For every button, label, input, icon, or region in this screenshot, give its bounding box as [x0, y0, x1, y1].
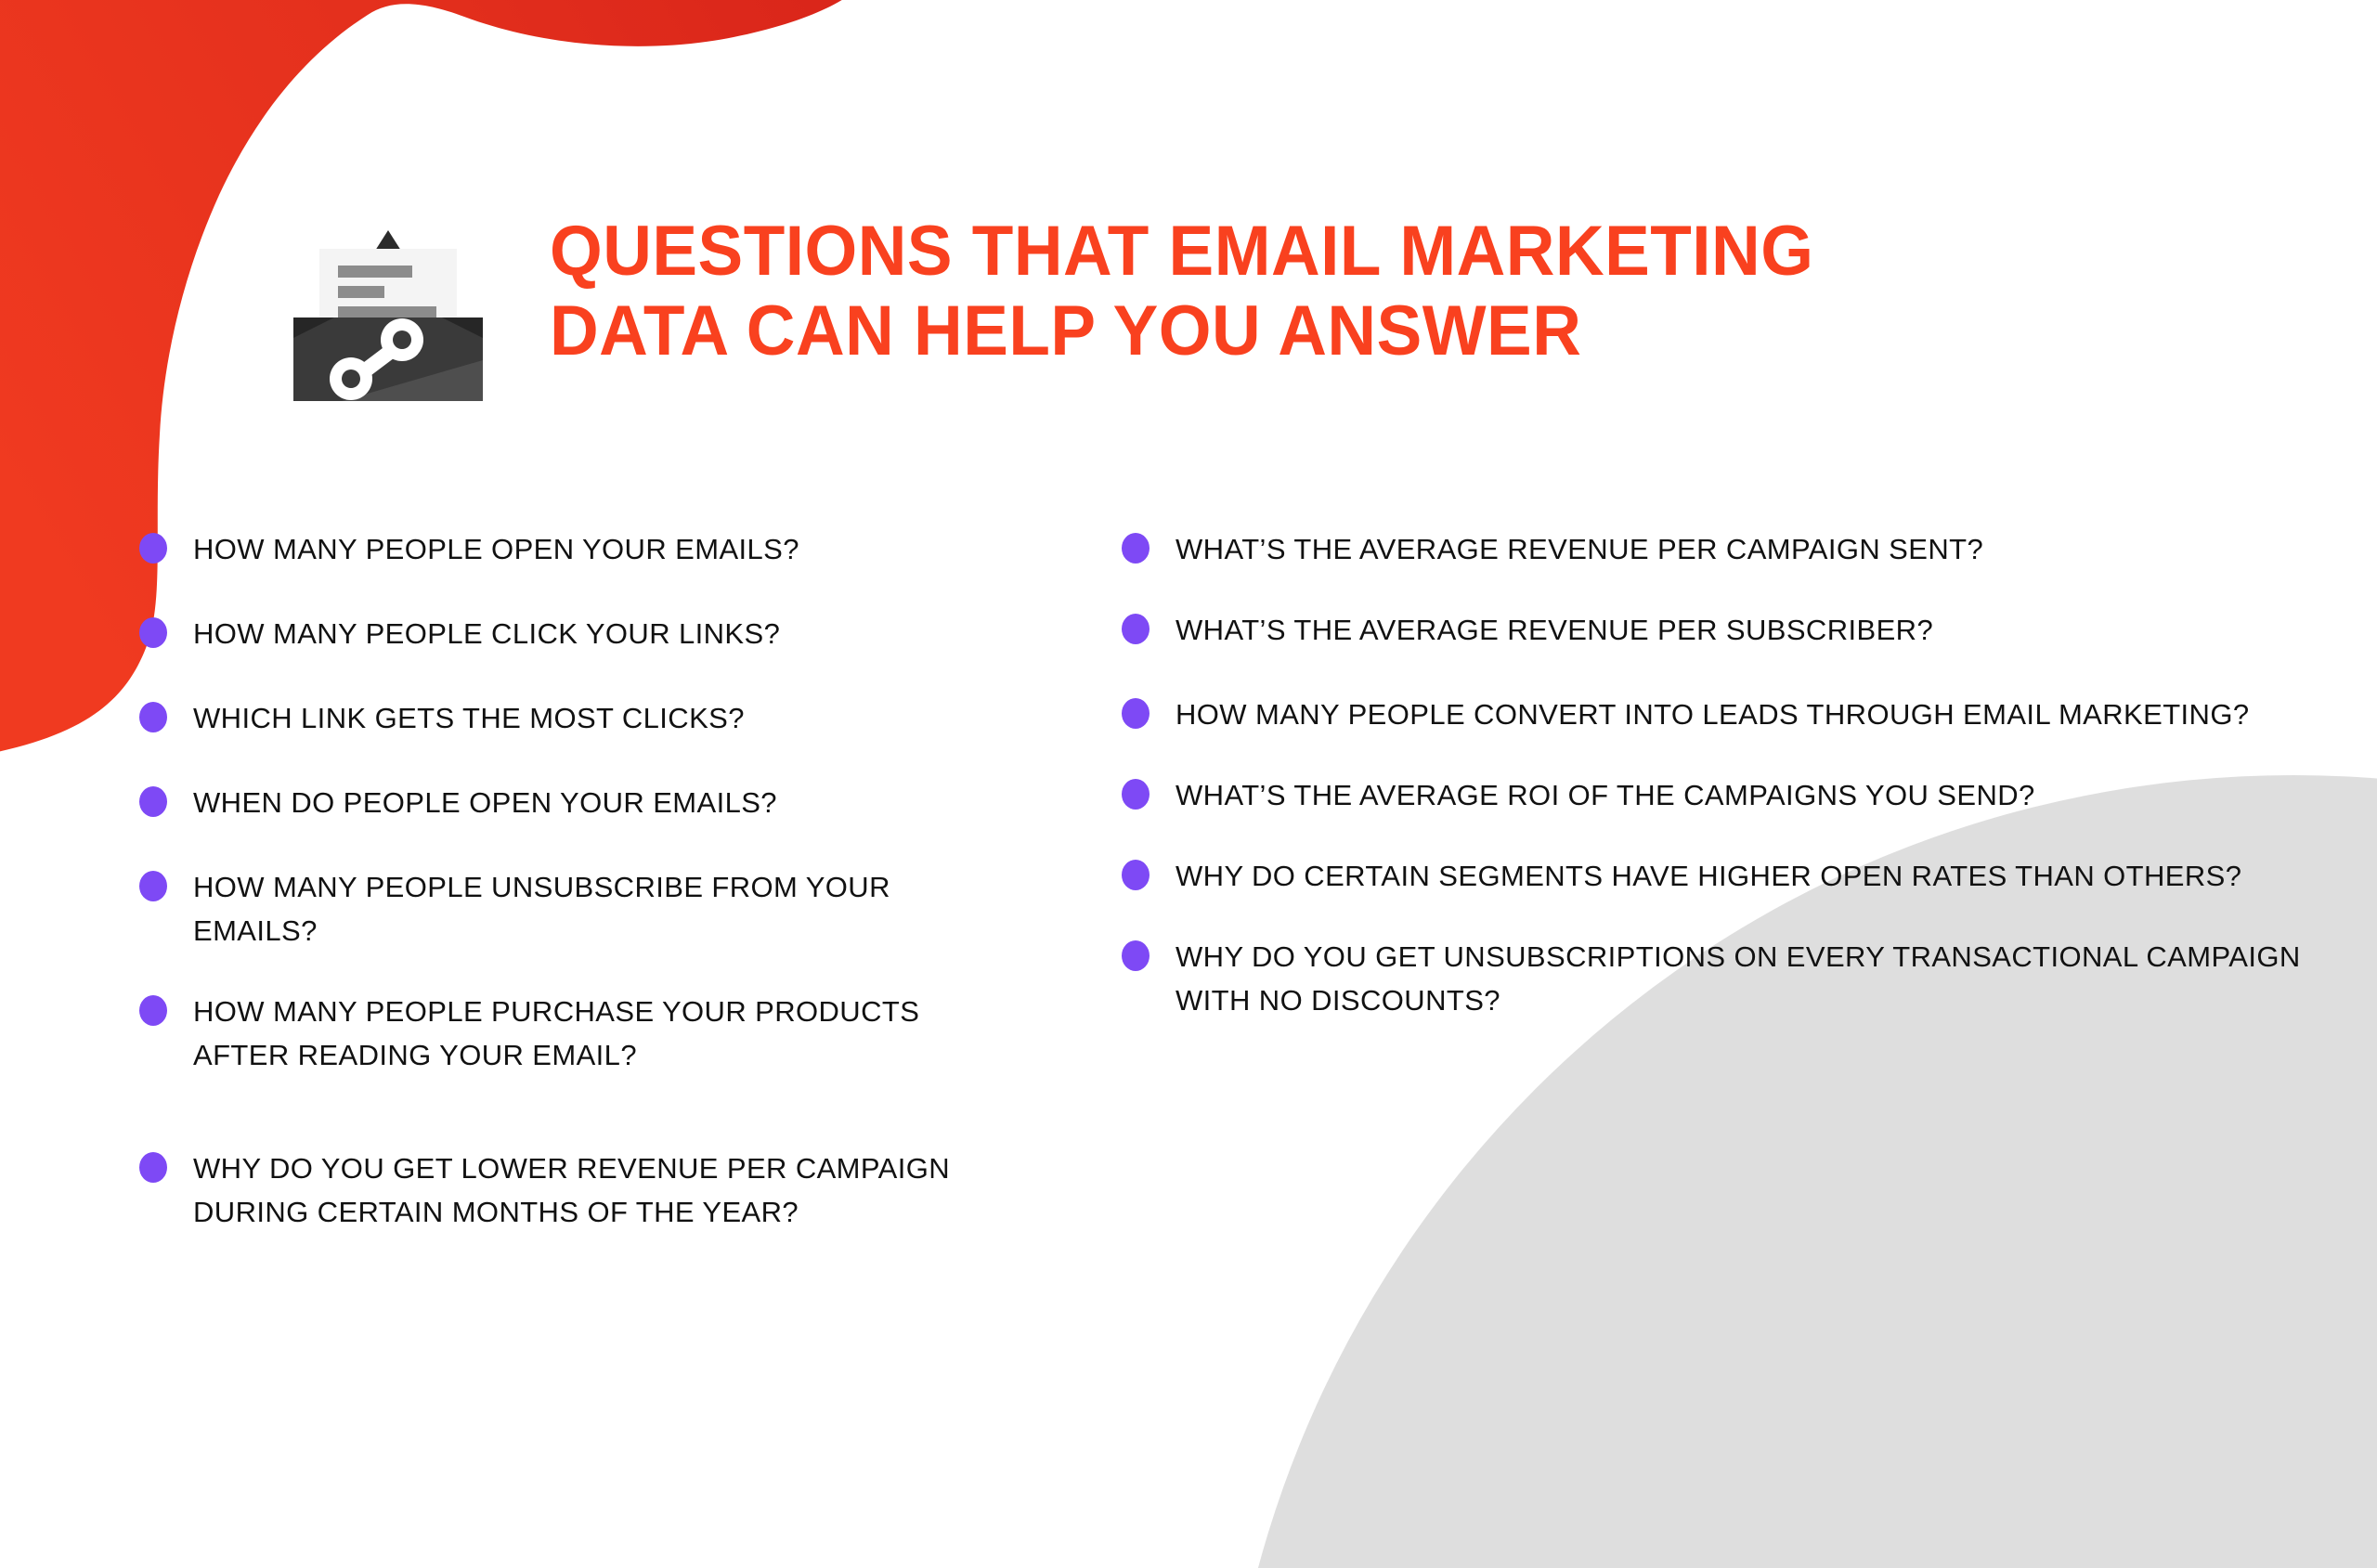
list-item: HOW MANY PEOPLE CONVERT INTO LEADS THROU… — [1122, 693, 2329, 736]
list-item: WHY DO YOU GET LOWER REVENUE PER CAMPAIG… — [139, 1147, 1021, 1234]
bullet-dot-icon — [1122, 614, 1150, 644]
questions-left-column: HOW MANY PEOPLE OPEN YOUR EMAILS? HOW MA… — [139, 527, 1021, 1234]
bullet-dot-icon — [139, 995, 167, 1026]
page-title-line-1: QUESTIONS THAT EMAIL MARKETING — [550, 212, 2154, 292]
bullet-dot-icon — [139, 533, 167, 564]
bullet-dot-icon — [139, 702, 167, 732]
list-item-label: HOW MANY PEOPLE UNSUBSCRIBE FROM YOUR EM… — [193, 865, 1021, 952]
list-item: HOW MANY PEOPLE CLICK YOUR LINKS? — [139, 612, 1021, 655]
list-item: WHICH LINK GETS THE MOST CLICKS? — [139, 696, 1021, 740]
list-item-label: WHICH LINK GETS THE MOST CLICKS? — [193, 696, 1021, 740]
list-item-label: HOW MANY PEOPLE CLICK YOUR LINKS? — [193, 612, 1021, 655]
page-title: QUESTIONS THAT EMAIL MARKETING DATA CAN … — [550, 212, 2221, 371]
list-item-label: HOW MANY PEOPLE PURCHASE YOUR PRODUCTS A… — [193, 990, 1021, 1077]
list-item-label: WHAT’S THE AVERAGE REVENUE PER SUBSCRIBE… — [1176, 608, 2329, 652]
list-item: HOW MANY PEOPLE OPEN YOUR EMAILS? — [139, 527, 1021, 571]
list-item-label: WHAT’S THE AVERAGE ROI OF THE CAMPAIGNS … — [1176, 773, 2329, 817]
bullet-dot-icon — [1122, 779, 1150, 810]
list-item-label: WHY DO YOU GET LOWER REVENUE PER CAMPAIG… — [193, 1147, 1021, 1234]
list-item-label: WHY DO YOU GET UNSUBSCRIPTIONS ON EVERY … — [1176, 935, 2329, 1022]
list-item: HOW MANY PEOPLE UNSUBSCRIBE FROM YOUR EM… — [139, 865, 1021, 952]
page-header: QUESTIONS THAT EMAIL MARKETING DATA CAN … — [0, 212, 2377, 407]
open-envelope-with-letter-icon — [286, 221, 490, 407]
list-item: WHAT’S THE AVERAGE REVENUE PER SUBSCRIBE… — [1122, 608, 2329, 652]
list-item: WHEN DO PEOPLE OPEN YOUR EMAILS? — [139, 781, 1021, 824]
list-item: HOW MANY PEOPLE PURCHASE YOUR PRODUCTS A… — [139, 990, 1021, 1077]
bullet-dot-icon — [139, 871, 167, 901]
list-item: WHY DO CERTAIN SEGMENTS HAVE HIGHER OPEN… — [1122, 854, 2329, 898]
list-item: WHY DO YOU GET UNSUBSCRIPTIONS ON EVERY … — [1122, 935, 2329, 1022]
bullet-dot-icon — [139, 786, 167, 817]
bullet-dot-icon — [139, 617, 167, 648]
questions-right-column: WHAT’S THE AVERAGE REVENUE PER CAMPAIGN … — [1122, 527, 2329, 1022]
bullet-dot-icon — [1122, 533, 1150, 564]
list-item: WHAT’S THE AVERAGE REVENUE PER CAMPAIGN … — [1122, 527, 2329, 571]
bullet-dot-icon — [1122, 860, 1150, 890]
bullet-dot-icon — [1122, 698, 1150, 729]
list-item: WHAT’S THE AVERAGE ROI OF THE CAMPAIGNS … — [1122, 773, 2329, 817]
list-item-label: WHEN DO PEOPLE OPEN YOUR EMAILS? — [193, 781, 1021, 824]
list-item-label: WHY DO CERTAIN SEGMENTS HAVE HIGHER OPEN… — [1176, 854, 2329, 898]
page-title-line-2: DATA CAN HELP YOU ANSWER — [550, 292, 2154, 371]
bullet-dot-icon — [1122, 940, 1150, 971]
list-item-label: HOW MANY PEOPLE CONVERT INTO LEADS THROU… — [1176, 693, 2329, 736]
list-item-label: WHAT’S THE AVERAGE REVENUE PER CAMPAIGN … — [1176, 527, 2329, 571]
list-item-label: HOW MANY PEOPLE OPEN YOUR EMAILS? — [193, 527, 1021, 571]
bullet-dot-icon — [139, 1152, 167, 1183]
